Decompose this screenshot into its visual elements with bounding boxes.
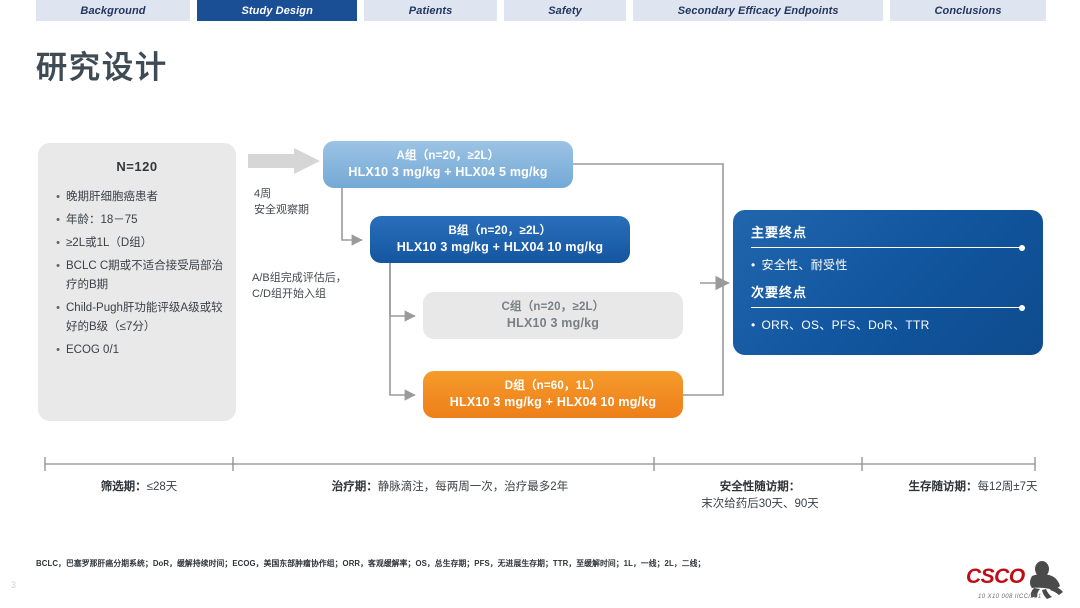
timeline-phase-treatment-label: 治疗期：: [332, 481, 378, 493]
timeline-phase-safety-followup: 安全性随访期：末次给药后30天、90天: [650, 479, 870, 513]
timeline-phase-screening-label: 筛选期：: [101, 481, 147, 493]
bullet-icon: •: [751, 318, 756, 332]
enrollment-arrow-icon: [248, 148, 320, 174]
bullet-icon: •: [50, 211, 66, 230]
criteria-item-label: ≥2L或1L（D组）: [66, 234, 224, 253]
inclusion-criteria-box: N=120 • 晚期肝细胞癌患者 • 年龄：18－75 • ≥2L或1L（D组）…: [38, 143, 236, 421]
bullet-icon: •: [50, 188, 66, 207]
timeline-phase-survival-followup: 生存随访期：每12周±7天: [868, 479, 1078, 496]
nav-tab-study-design[interactable]: Study Design: [197, 0, 357, 21]
timeline-phase-treatment: 治疗期：静脉滴注，每两周一次，治疗最多2年: [240, 479, 660, 496]
arm-d-title: D组（n=60，1L）: [505, 378, 601, 394]
primary-endpoint-rule: [751, 244, 1025, 251]
arm-b-dose: HLX10 3 mg/kg + HLX04 10 mg/kg: [397, 239, 603, 256]
timeline-phase-safety-detail: 末次给药后30天、90天: [701, 498, 819, 510]
criteria-item: • Child-Pugh肝功能评级A级或较好的B级（≤7分）: [50, 299, 224, 337]
timeline-phase-treatment-detail: 静脉滴注，每两周一次，治疗最多2年: [378, 481, 568, 493]
csco-wordmark: CSCO: [966, 565, 1025, 589]
primary-endpoint-label: 安全性、耐受性: [762, 258, 848, 272]
csco-tagline: 10 X10 008 IICC/201: [978, 594, 1042, 600]
study-arm-b: B组（n=20，≥2L） HLX10 3 mg/kg + HLX04 10 mg…: [370, 216, 630, 263]
nav-tab-background[interactable]: Background: [36, 0, 190, 21]
nav-tab-safety[interactable]: Safety: [504, 0, 626, 21]
bullet-icon: •: [50, 234, 66, 253]
study-arm-d: D组（n=60，1L） HLX10 3 mg/kg + HLX04 10 mg/…: [423, 371, 683, 418]
criteria-item-label: BCLC C期或不适合接受局部治疗的B期: [66, 257, 224, 295]
timeline-phase-survival-label: 生存随访期：: [909, 481, 978, 493]
criteria-item-label: ECOG 0/1: [66, 341, 224, 360]
primary-endpoint-heading: 主要终点: [751, 222, 1025, 241]
sample-size-label: N=120: [50, 159, 224, 174]
nav-tab-conclusions[interactable]: Conclusions: [890, 0, 1046, 21]
timeline-phase-survival-detail: 每12周±7天: [978, 481, 1038, 493]
bullet-icon: •: [50, 257, 66, 295]
timeline-phase-screening: 筛选期：≤28天: [44, 479, 234, 496]
secondary-endpoint-item: •ORR、OS、PFS、DoR、TTR: [751, 316, 1025, 334]
annotation-enrollment-order: A/B组完成评估后， C/D组开始入组: [252, 270, 347, 302]
annotation-observation-period: 4周 安全观察期: [254, 186, 309, 218]
section-nav-tabs: Background Study Design Patients Safety …: [36, 0, 1046, 21]
criteria-item-label: 晚期肝细胞癌患者: [66, 188, 224, 207]
criteria-item: • 晚期肝细胞癌患者: [50, 188, 224, 207]
page-number: 3: [11, 580, 16, 590]
csco-logo: CSCO 10 X10 008 IICC/201: [964, 560, 1068, 602]
arm-c-title: C组（n=20，≥2L）: [502, 299, 605, 315]
secondary-endpoint-rule: [751, 304, 1025, 311]
criteria-item: • BCLC C期或不适合接受局部治疗的B期: [50, 257, 224, 295]
study-arm-c: C组（n=20，≥2L） HLX10 3 mg/kg: [423, 292, 683, 339]
criteria-item-label: 年龄：18－75: [66, 211, 224, 230]
criteria-item: • 年龄：18－75: [50, 211, 224, 230]
criteria-item: • ECOG 0/1: [50, 341, 224, 360]
criteria-item: • ≥2L或1L（D组）: [50, 234, 224, 253]
arm-c-dose: HLX10 3 mg/kg: [507, 315, 599, 332]
abbreviations-footnote: BCLC，巴塞罗那肝癌分期系统；DoR，缓解持续时间；ECOG，美国东部肿瘤协作…: [36, 558, 936, 569]
nav-tab-secondary-efficacy-endpoints[interactable]: Secondary Efficacy Endpoints: [633, 0, 883, 21]
nav-tab-patients[interactable]: Patients: [364, 0, 496, 21]
arm-a-title: A组（n=20，≥2L）: [397, 148, 500, 164]
primary-endpoint-item: •安全性、耐受性: [751, 256, 1025, 274]
timeline-phase-safety-label: 安全性随访期：: [720, 481, 801, 493]
secondary-endpoint-label: ORR、OS、PFS、DoR、TTR: [762, 318, 930, 332]
page-title: 研究设计: [36, 42, 168, 87]
bullet-icon: •: [751, 258, 756, 272]
bullet-icon: •: [50, 299, 66, 337]
arm-b-title: B组（n=20，≥2L）: [449, 223, 552, 239]
timeline-phase-screening-detail: ≤28天: [147, 481, 178, 493]
arm-d-dose: HLX10 3 mg/kg + HLX04 10 mg/kg: [450, 394, 656, 411]
bullet-icon: •: [50, 341, 66, 360]
criteria-item-label: Child-Pugh肝功能评级A级或较好的B级（≤7分）: [66, 299, 224, 337]
study-arm-a: A组（n=20，≥2L） HLX10 3 mg/kg + HLX04 5 mg/…: [323, 141, 573, 188]
secondary-endpoint-heading: 次要终点: [751, 282, 1025, 301]
arm-a-dose: HLX10 3 mg/kg + HLX04 5 mg/kg: [348, 164, 547, 181]
endpoints-box: 主要终点 •安全性、耐受性 次要终点 •ORR、OS、PFS、DoR、TTR: [733, 210, 1043, 355]
